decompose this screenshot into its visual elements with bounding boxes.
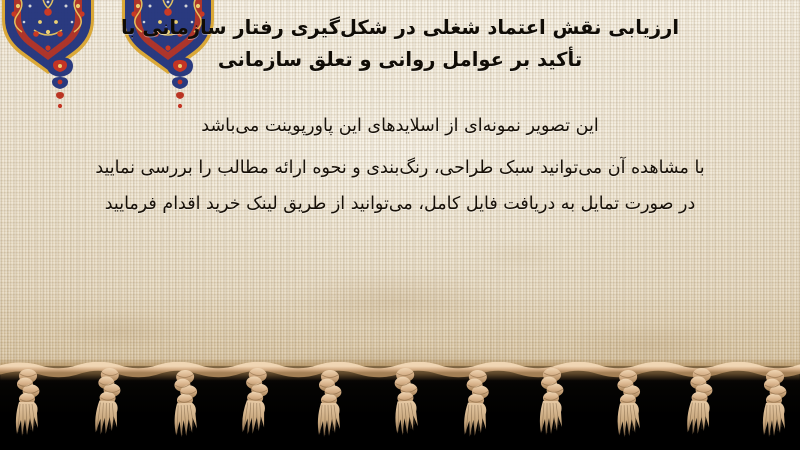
tassel-fringe-icon	[0, 362, 800, 450]
slide-body-text: این تصویر نمونه‌ای از اسلایدهای این پاور…	[0, 108, 800, 222]
body-line-1: این تصویر نمونه‌ای از اسلایدهای این پاور…	[0, 108, 800, 144]
body-line-3: در صورت تمایل به دریافت فایل کامل، می‌تو…	[0, 186, 800, 222]
carpet-tassel-fringe	[0, 362, 800, 450]
slide-title-line-1: ارزیابی نقش اعتماد شغلی در شکل‌گیری رفتا…	[0, 12, 800, 44]
presentation-slide: ارزیابی نقش اعتماد شغلی در شکل‌گیری رفتا…	[0, 0, 800, 450]
slide-title: ارزیابی نقش اعتماد شغلی در شکل‌گیری رفتا…	[0, 12, 800, 76]
body-line-2: با مشاهده آن می‌توانید سبک طراحی، رنگ‌بن…	[0, 150, 800, 186]
slide-title-line-2: تأکید بر عوامل روانی و تعلق سازمانی	[0, 44, 800, 76]
